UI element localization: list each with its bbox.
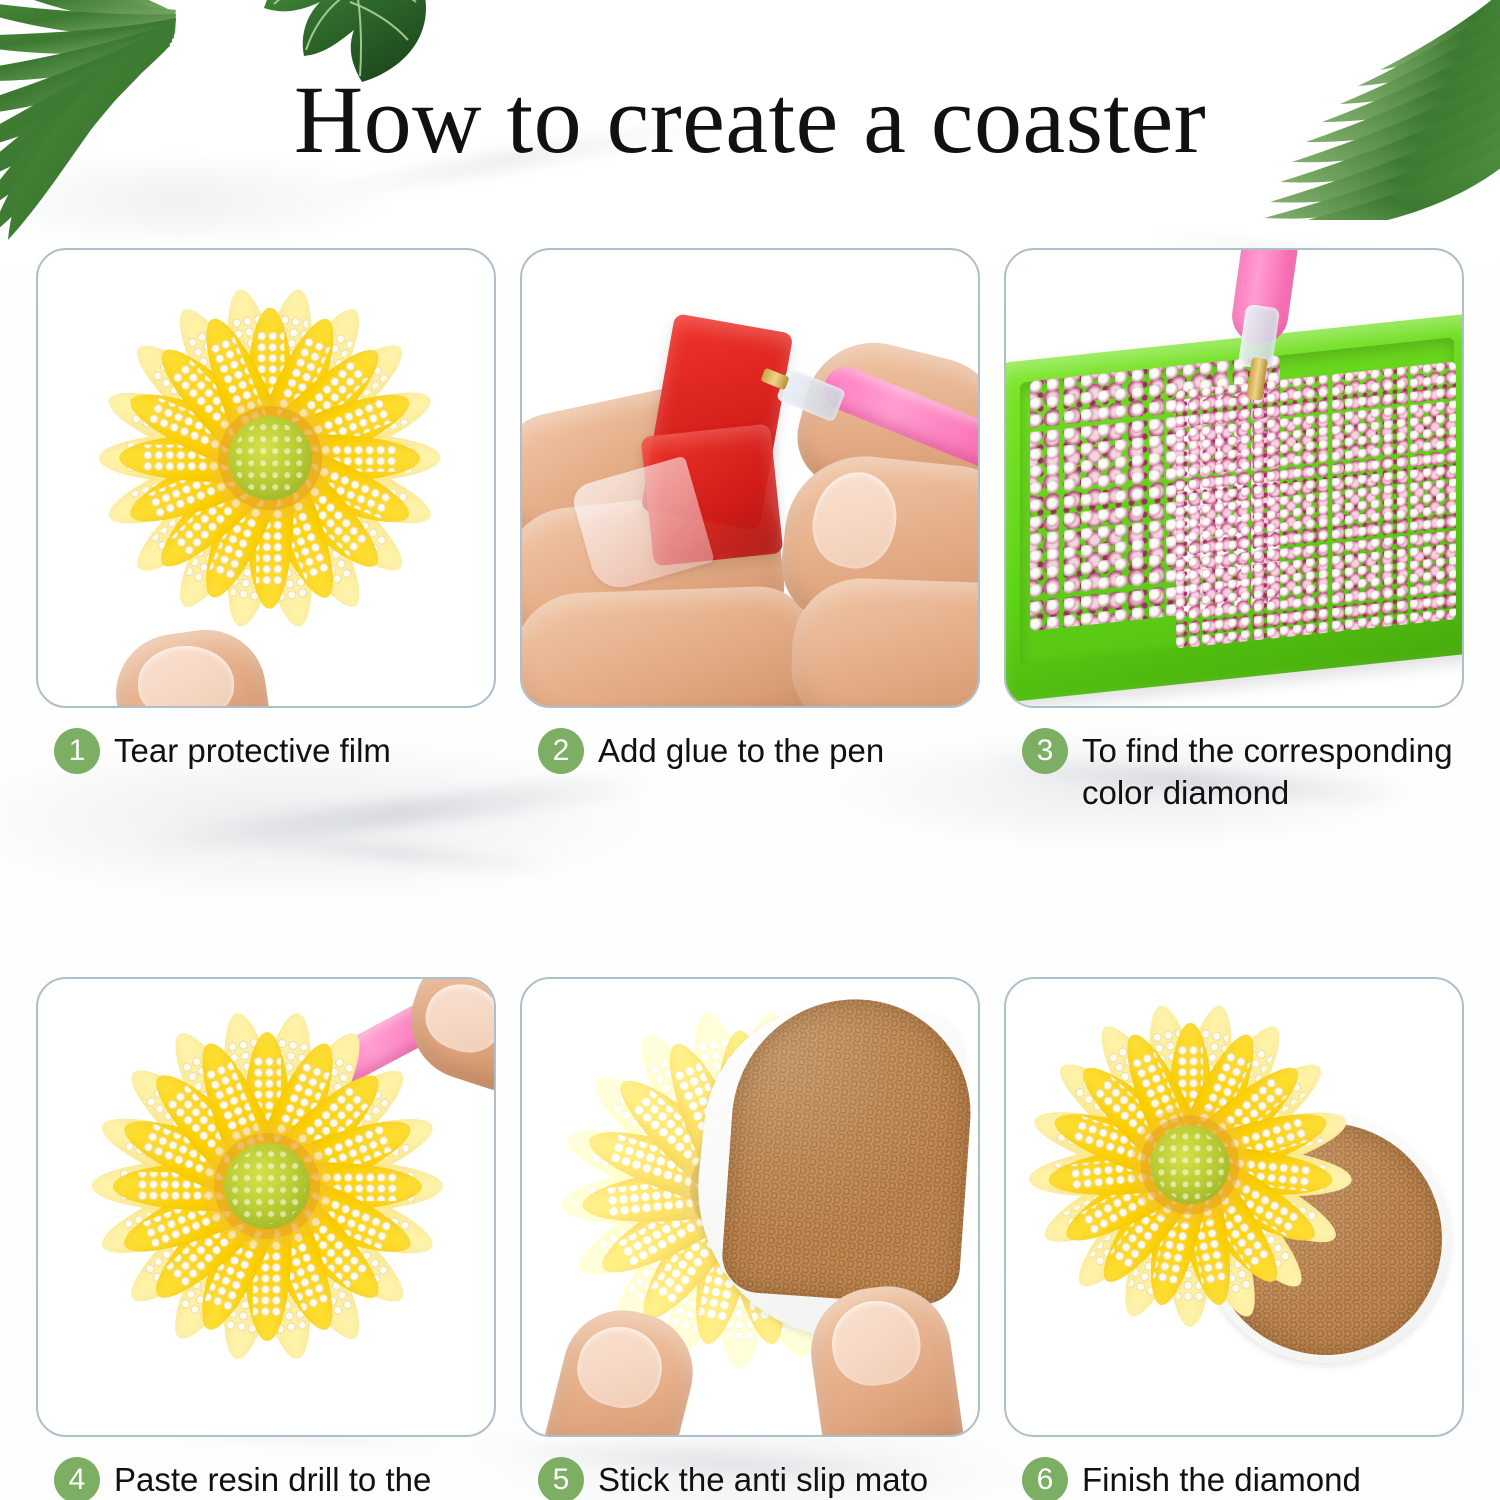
step-card-1: 1 Tear protective film [36,248,496,813]
step-photo-5 [520,977,980,1437]
step-badge-6: 6 [1022,1457,1068,1500]
steps-row-top: 1 Tear protective film [36,248,1464,813]
step-photo-6 [1004,977,1464,1437]
finger [520,585,814,708]
step-caption-1: 1 Tear protective film [36,728,496,774]
flower-center [1150,1126,1229,1205]
pink-rhinestones [1176,361,1456,648]
steps-row-bottom: 4 Paste resin drill to the corresponding… [36,977,1464,1500]
step-badge-4: 4 [54,1457,100,1500]
step-card-5: 5 Stick the anti slip mato the bottom of… [520,977,980,1500]
step-text-5: Stick the anti slip mato the bottom of t… [598,1457,980,1500]
daisy-coaster [80,268,460,648]
step-caption-6: 6 Finish the diamond painting coaster [1004,1457,1464,1500]
infographic-page: How to create a coaster 1 Tear protectiv… [0,0,1500,1500]
finger [789,576,980,708]
step-text-3: To find the corresponding color diamond [1082,728,1453,813]
step-text-1: Tear protective film [114,728,391,772]
step-text-2: Add glue to the pen [598,728,884,772]
step-caption-5: 5 Stick the anti slip mato the bottom of… [520,1457,980,1500]
step-photo-4 [36,977,496,1437]
step-card-2: 2 Add glue to the pen [520,248,980,813]
step-photo-3 [1004,248,1464,708]
step-badge-5: 5 [538,1457,584,1500]
step-card-4: 4 Paste resin drill to the corresponding… [36,977,496,1500]
step-caption-4: 4 Paste resin drill to the corresponding… [36,1457,496,1500]
step-text-6: Finish the diamond painting coaster [1082,1457,1464,1500]
flower-center [228,416,312,500]
step-caption-3: 3 To find the corresponding color diamon… [1004,728,1464,813]
step-caption-2: 2 Add glue to the pen [520,728,980,774]
steps-grid: 1 Tear protective film [36,248,1464,1500]
step-text-4: Paste resin drill to the corresponding p… [114,1457,446,1500]
step-photo-2 [520,248,980,708]
step-badge-1: 1 [54,728,100,774]
step-card-3: 3 To find the corresponding color diamon… [1004,248,1464,813]
step-badge-2: 2 [538,728,584,774]
step-card-6: 6 Finish the diamond painting coaster [1004,977,1464,1500]
flower-center [224,1143,310,1229]
step-badge-3: 3 [1022,728,1068,774]
page-title: How to create a coaster [0,70,1500,171]
step-photo-1 [36,248,496,708]
